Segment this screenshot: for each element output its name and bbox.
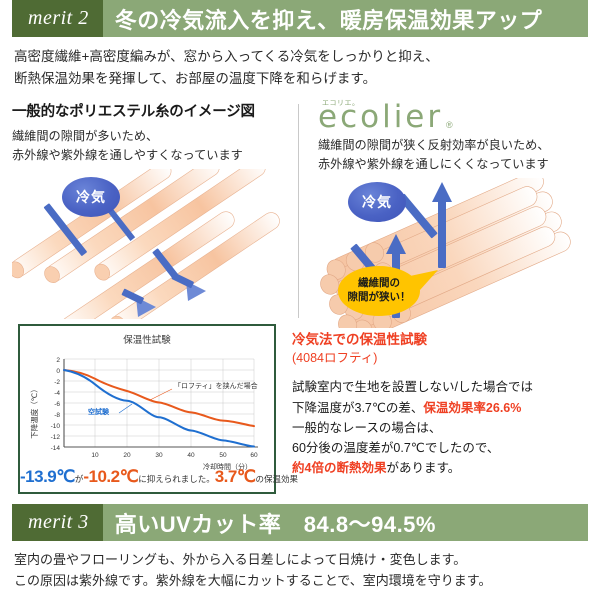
svg-text:10: 10 bbox=[91, 452, 99, 459]
body-line5: 約4倍の断熱効果があります。 bbox=[292, 458, 600, 478]
caption-value-after: -10.2℃ bbox=[83, 467, 138, 486]
svg-text:50: 50 bbox=[219, 452, 227, 459]
body-line2-highlight: 保温効果率26.6% bbox=[423, 401, 521, 415]
test-description-head: 冷気法での保温性試験 bbox=[292, 330, 600, 350]
svg-text:-8: -8 bbox=[54, 412, 60, 419]
chart-svg: 下降温度（℃） 2 0 -2 -4 -6 -8 -10 -12 -14 bbox=[26, 348, 270, 474]
body-line2: 下降温度が3.7℃の差、保温効果率26.6% bbox=[292, 398, 600, 418]
panel-right-sub: 繊維間の隙間が狭く反射効率が良いため、 赤外線や紫外線を通しにくくなっています bbox=[318, 136, 588, 174]
blank-leader-line bbox=[119, 404, 132, 413]
merit2-title: 冬の冷気流入を抑え、暖房保温効果アップ bbox=[103, 0, 588, 37]
test-description-sub: (4084ロフティ) bbox=[292, 349, 600, 367]
merit3-note-line1: 室内の畳やフローリングも、外から入る日差しによって日焼け・変色します。 bbox=[14, 550, 586, 571]
comparison-panels: 一般的なポリエステル糸のイメージ図 繊維間の隙間が多いため、 赤外線や紫外線を通… bbox=[0, 100, 600, 322]
panel-left-sub: 繊維間の隙間が多いため、 赤外線や紫外線を通しやすくなっています bbox=[12, 127, 288, 165]
test-description: 冷気法での保温性試験 (4084ロフティ) 試験室内で生地を設置しない/した場合… bbox=[292, 324, 600, 509]
ecolier-logo-text: ecolier bbox=[318, 102, 443, 133]
svg-text:2: 2 bbox=[56, 357, 60, 364]
svg-text:-6: -6 bbox=[54, 401, 60, 408]
merit3-section: merit 3 高いUVカット率 84.8〜94.5% 室内の畳やフローリングも… bbox=[0, 504, 600, 592]
caption-tail: に抑えられました。 bbox=[138, 474, 215, 484]
chart-yticks: 2 0 -2 -4 -6 -8 -10 -12 -14 bbox=[51, 357, 61, 452]
caption-effect: 3.7℃ bbox=[215, 467, 256, 486]
ecolier-logo: エコリエ。 ecolier ® bbox=[318, 100, 588, 134]
callout-line2: 隙間が狭い！ bbox=[348, 291, 411, 305]
body-line5-b: があります。 bbox=[386, 461, 460, 475]
series-blank-label: 空試験 bbox=[88, 407, 110, 416]
panel-left-sub-line2: 赤外線や紫外線を通しやすくなっています bbox=[12, 146, 288, 165]
loose-fiber-illustration: 冷気 bbox=[12, 169, 288, 319]
svg-text:-12: -12 bbox=[51, 434, 61, 441]
test-description-body: 試験室内で生地を設置しない/した場合では 下降温度が3.7℃の差、保温効果率26… bbox=[292, 377, 600, 478]
merit2-badge: merit 2 bbox=[12, 0, 103, 37]
merit3-title: 高いUVカット率 84.8〜94.5% bbox=[103, 504, 588, 541]
test-result-section: 保温性試験 下降温度（℃） 2 0 -2 -4 -6 -8 -10 -12 -1… bbox=[0, 324, 600, 509]
body-line3: 一般的なレースの場合は、 bbox=[292, 418, 600, 438]
panel-right-sub-line2: 赤外線や紫外線を通しにくくなっています bbox=[318, 155, 588, 174]
svg-text:-4: -4 bbox=[54, 390, 60, 397]
merit2-lead: 高密度繊維+高密度編みが、窓から入ってくる冷気をしっかりと抑え、 断熱保温効果を… bbox=[14, 46, 586, 90]
panel-generic-polyester: 一般的なポリエステル糸のイメージ図 繊維間の隙間が多いため、 赤外線や紫外線を通… bbox=[0, 100, 300, 322]
caption-value-before: -13.9℃ bbox=[20, 467, 75, 486]
chart-result-caption: -13.9℃が-10.2℃に抑えられました。3.7℃の保温効果 bbox=[20, 467, 274, 487]
merit3-badge: merit 3 bbox=[12, 504, 103, 541]
panel-left-heading: 一般的なポリエステル糸のイメージ図 bbox=[12, 100, 288, 121]
svg-text:-2: -2 bbox=[54, 379, 60, 386]
panel-left-sub-line1: 繊維間の隙間が多いため、 bbox=[12, 127, 288, 146]
svg-text:0: 0 bbox=[56, 368, 60, 375]
chart-ylabel: 下降温度（℃） bbox=[29, 385, 39, 438]
svg-text:-10: -10 bbox=[51, 423, 61, 430]
svg-text:20: 20 bbox=[123, 452, 131, 459]
body-line5-highlight: 約4倍の断熱効果 bbox=[292, 461, 386, 475]
svg-text:60: 60 bbox=[250, 452, 258, 459]
loose-fiber-svg bbox=[12, 169, 292, 319]
callout-line1: 繊維間の bbox=[358, 277, 400, 291]
series-loftie-label: 「ロフティ」を挟んだ場合 bbox=[174, 381, 258, 390]
svg-text:30: 30 bbox=[155, 452, 163, 459]
body-line1: 試験室内で生地を設置しない/した場合では bbox=[292, 377, 600, 397]
merit3-note: 室内の畳やフローリングも、外から入る日差しによって日焼け・変色します。 この原因… bbox=[14, 550, 586, 592]
panel-right-sub-line1: 繊維間の隙間が狭く反射効率が良いため、 bbox=[318, 136, 588, 155]
merit2-lead-line2: 断熱保温効果を発揮して、お部屋の温度下降を和らげます。 bbox=[14, 68, 586, 90]
svg-text:-14: -14 bbox=[51, 445, 61, 452]
registered-mark-icon: ® bbox=[446, 120, 453, 130]
caption-effect-tail: の保温効果 bbox=[255, 474, 298, 484]
gap-narrow-callout: 繊維間の 隙間が狭い！ bbox=[338, 266, 420, 316]
merit2-lead-line1: 高密度繊維+高密度編みが、窓から入ってくる冷気をしっかりと抑え、 bbox=[14, 46, 586, 68]
merit3-note-line2: この原因は紫外線です。紫外線を大幅にカットすることで、室内環境を守ります。 bbox=[14, 571, 586, 592]
chart-xticks: 10 20 30 40 50 60 bbox=[91, 452, 258, 459]
svg-text:40: 40 bbox=[187, 452, 195, 459]
panel-ecolier: エコリエ。 ecolier ® 繊維間の隙間が狭く反射効率が良いため、 赤外線や… bbox=[300, 100, 600, 322]
dense-fiber-illustration: 冷気 繊維間の 隙間が狭い！ bbox=[318, 178, 588, 328]
insulation-test-chart: 保温性試験 下降温度（℃） 2 0 -2 -4 -6 -8 -10 -12 -1… bbox=[18, 324, 276, 494]
loftie-leader-line bbox=[150, 389, 172, 400]
body-line2-a: 下降温度が3.7℃の差、 bbox=[292, 401, 423, 415]
cold-air-badge-left: 冷気 bbox=[62, 177, 120, 217]
body-line4: 60分後の温度差が0.7℃でしたので、 bbox=[292, 438, 600, 458]
merit2-banner: merit 2 冬の冷気流入を抑え、暖房保温効果アップ bbox=[12, 0, 588, 37]
chart-title: 保温性試験 bbox=[26, 332, 268, 346]
merit3-banner: merit 3 高いUVカット率 84.8〜94.5% bbox=[12, 504, 588, 541]
cold-air-badge-right: 冷気 bbox=[348, 182, 406, 222]
